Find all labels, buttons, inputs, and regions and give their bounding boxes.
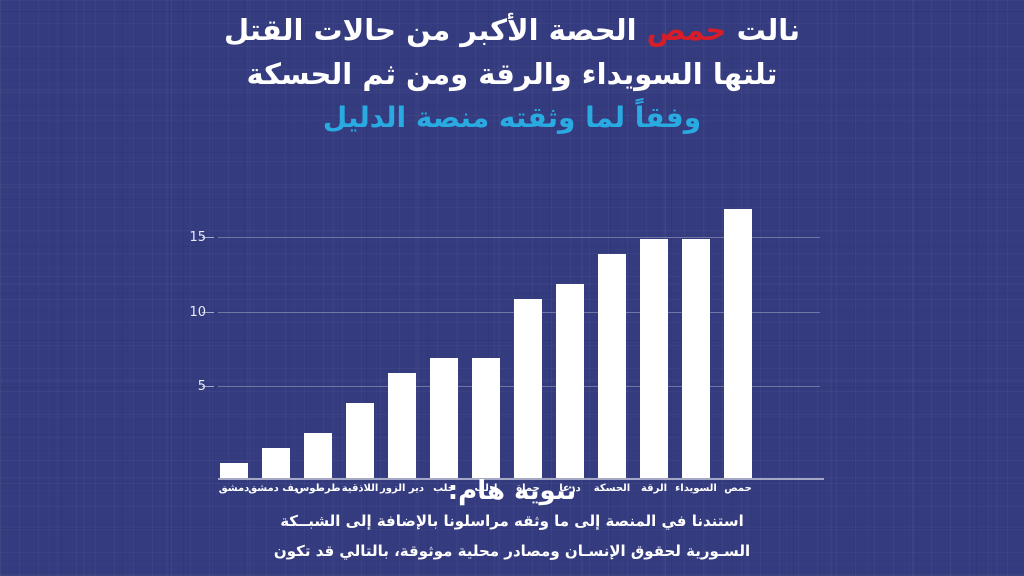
disclaimer-block: تنويه هام: استندنا في المنصة إلى ما وثقه…	[0, 476, 1024, 566]
bar-column: حمص	[724, 180, 752, 478]
headline-line-1: نالت حمص الحصة الأكبر من حالات القتل	[0, 8, 1024, 52]
bar-column: ريف دمشق	[262, 180, 290, 478]
y-tick-label-5: 5	[166, 380, 206, 393]
headline-line-2: تلتها السويداء والرقة ومن ثم الحسكة	[0, 52, 1024, 96]
bar-column: طرطوس	[304, 180, 332, 478]
bar	[388, 373, 416, 478]
bar-column: اللاذقية	[346, 180, 374, 478]
bar	[262, 448, 290, 478]
bar-chart: 51015 دمشقريف دمشقطرطوساللاذقيةدير الزور…	[188, 180, 828, 480]
chart-plot-area: 51015 دمشقريف دمشقطرطوساللاذقيةدير الزور…	[218, 180, 820, 480]
bar	[514, 299, 542, 478]
bar	[682, 239, 710, 478]
disclaimer-line-2: السـورية لحقوق الإنسـان ومصادر محلية موث…	[0, 536, 1024, 566]
bar-column: حلب	[430, 180, 458, 478]
bar-column: الحسكة	[598, 180, 626, 478]
headline-block: نالت حمص الحصة الأكبر من حالات القتل تلت…	[0, 8, 1024, 140]
bar-column: درعا	[556, 180, 584, 478]
bar	[304, 433, 332, 478]
bar-column: دمشق	[220, 180, 248, 478]
headline-line-1-prefix: نالت	[727, 13, 800, 47]
bar	[556, 284, 584, 478]
bar	[346, 403, 374, 478]
bar-column: حماة	[514, 180, 542, 478]
bar	[724, 209, 752, 478]
disclaimer-title: تنويه هام:	[0, 476, 1024, 506]
bar-column: السويداء	[682, 180, 710, 478]
bar-column: إدلب	[472, 180, 500, 478]
y-tick-label-10: 10	[166, 306, 206, 319]
y-tick-label-15: 15	[166, 231, 206, 244]
bar-column: الرقة	[640, 180, 668, 478]
chart-bars: دمشقريف دمشقطرطوساللاذقيةدير الزورحلبإدل…	[220, 180, 820, 478]
bar	[598, 254, 626, 478]
headline-line-3-source: وفقاً لما وثقته منصة الدليل	[0, 96, 1024, 140]
bar	[430, 358, 458, 478]
bar-column: دير الزور	[388, 180, 416, 478]
bar	[640, 239, 668, 478]
bar	[472, 358, 500, 478]
disclaimer-line-1: استندنا في المنصة إلى ما وثقه مراسلونا ب…	[0, 506, 1024, 536]
headline-line-1-suffix: الحصة الأكبر من حالات القتل	[224, 13, 647, 47]
headline-highlight-homs: حمص	[647, 13, 727, 47]
